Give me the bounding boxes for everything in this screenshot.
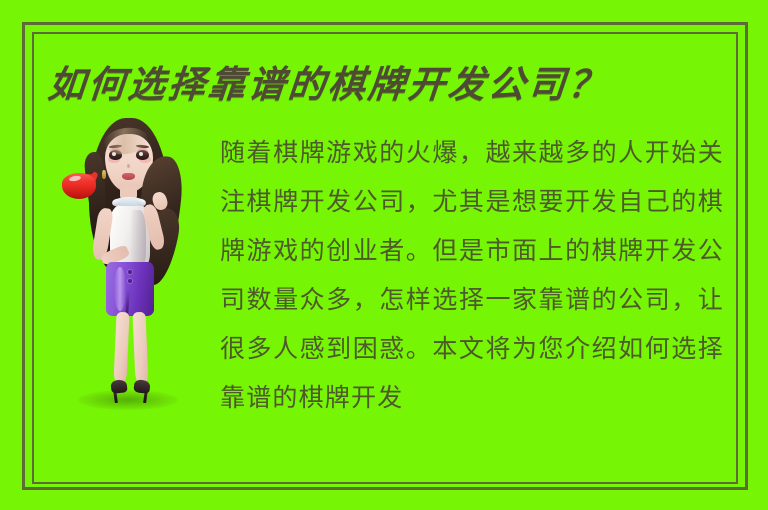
nose [127, 164, 130, 168]
ground-shadow-ellipse [78, 390, 178, 410]
leg-left [113, 312, 129, 384]
page-title: 如何选择靠谱的棋牌开发公司？ [46, 59, 671, 111]
shoe-right [133, 379, 150, 394]
skirt-highlight [114, 267, 126, 311]
mouth [122, 173, 135, 180]
poster-canvas: 如何选择靠谱的棋牌开发公司？ [0, 0, 768, 510]
shoe-left [110, 379, 127, 394]
skirt-button-bottom [128, 279, 132, 283]
body-paragraph: 随着棋牌游戏的火爆，越来越多的人开始关注棋牌开发公司，尤其是想要开发自己的棋牌游… [220, 128, 724, 422]
collar-bow [114, 197, 144, 206]
eye-right [136, 150, 149, 160]
earring-left [102, 170, 106, 179]
leg-right [132, 312, 148, 384]
skirt-button-top [128, 270, 132, 274]
lips-lower [62, 183, 96, 199]
lips-emoji-sticker [58, 170, 100, 200]
character-illustration [56, 112, 196, 412]
